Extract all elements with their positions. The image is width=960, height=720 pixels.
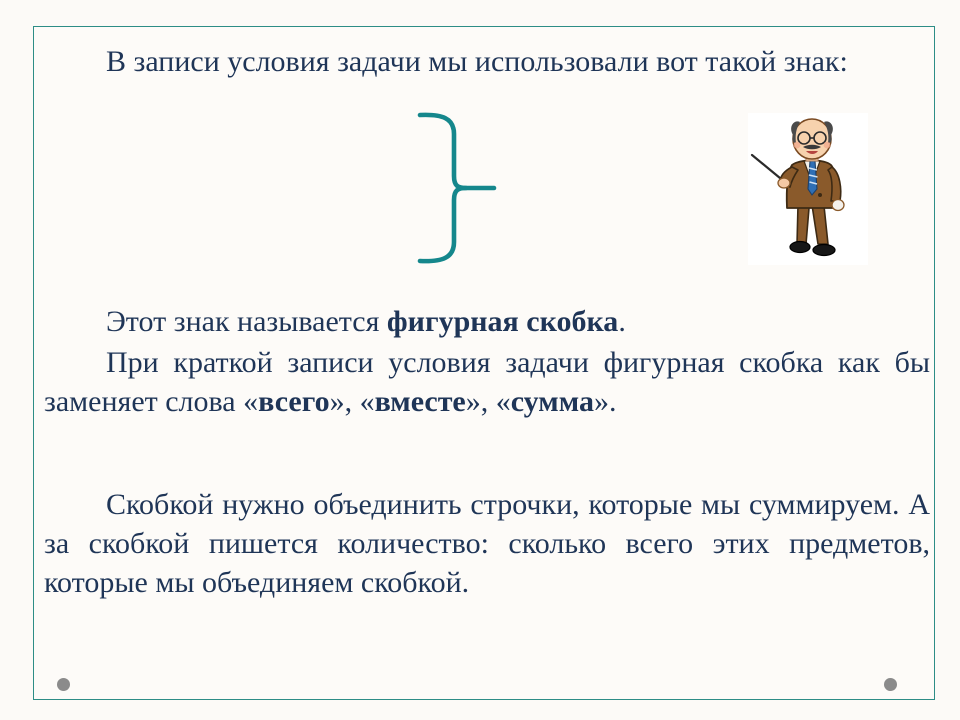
teacher-clipart-image	[748, 113, 868, 265]
text-run: », «	[330, 385, 375, 418]
decoration-dot-right	[884, 678, 897, 691]
decoration-dot-left	[57, 678, 70, 691]
text-run: », «	[466, 385, 511, 418]
text-bold-figurnaya-skobka: фигурная скобка	[387, 305, 618, 338]
text-run: Этот знак называется	[106, 305, 387, 338]
paragraph-replaces-words: При краткой записи условия задачи фигурн…	[44, 343, 930, 421]
text-bold-vmeste: вместе	[375, 385, 466, 418]
curly-brace-icon	[404, 100, 514, 275]
paragraph-intro: В записи условия задачи мы использовали …	[44, 42, 930, 81]
text-bold-vsego: всего	[258, 385, 329, 418]
text-run: ».	[594, 385, 617, 418]
text-run: .	[618, 305, 626, 338]
text-bold-summa: сумма	[511, 385, 594, 418]
paragraph-brace-name: Этот знак называется фигурная скобка.	[44, 302, 930, 341]
slide-canvas: В записи условия задачи мы использовали …	[0, 0, 960, 720]
paragraph-how-to-use: Скобкой нужно объединить строчки, которы…	[44, 485, 930, 602]
